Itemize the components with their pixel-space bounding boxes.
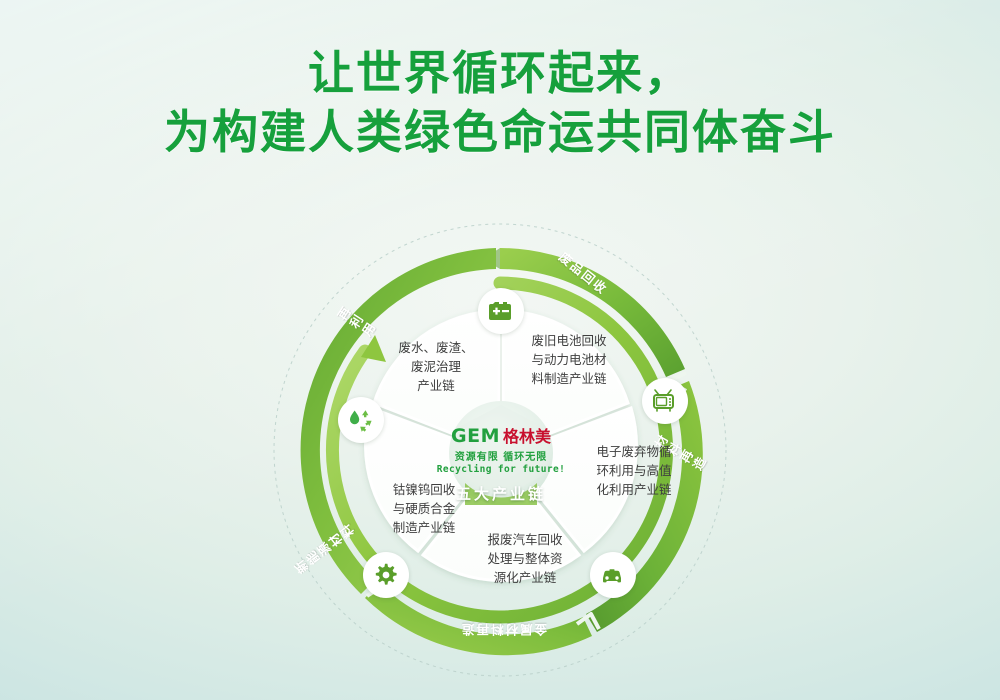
logo-gem-mark: GEM <box>451 427 500 446</box>
logo-slogan-chinese: 资源有限 循环无限 <box>426 448 576 463</box>
circular-industry-chain-diagram: 废品回收 再利用 新能源材料 金属材料再造 材料再造 <box>255 215 745 685</box>
title-line-1: 让世界循环起来， <box>0 44 1000 103</box>
logo-chinese-name: 格林美 <box>503 429 551 445</box>
center-logo: GEM 格林美 资源有限 循环无限 Recycling for future! <box>426 427 576 475</box>
logo-slogan-english: Recycling for future! <box>426 464 576 475</box>
chain-text-e-waste: 电子废弃物循 环利用与高值 化利用产业链 <box>578 443 690 499</box>
gear-icon[interactable] <box>363 552 409 598</box>
center-caption: 五大产业链 <box>421 483 581 504</box>
water-recycle-icon[interactable] <box>338 397 384 443</box>
car-icon[interactable] <box>590 552 636 598</box>
television-icon[interactable] <box>642 378 688 424</box>
page-title: 让世界循环起来， 为构建人类绿色命运共同体奋斗 <box>0 44 1000 162</box>
chain-text-battery: 废旧电池回收 与动力电池材 料制造产业链 <box>507 332 631 388</box>
chain-text-wastewater-slag-sludge: 废水、废渣、 废泥治理 产业链 <box>377 339 495 395</box>
title-line-2: 为构建人类绿色命运共同体奋斗 <box>0 103 1000 162</box>
chain-text-end-of-life-vehicle: 报废汽车回收 处理与整体资 源化产业链 <box>466 531 584 587</box>
infographic-canvas: 让世界循环起来， 为构建人类绿色命运共同体奋斗 <box>0 0 1000 700</box>
battery-icon[interactable] <box>478 288 524 334</box>
logo-wordmark-row: GEM 格林美 <box>426 427 576 446</box>
